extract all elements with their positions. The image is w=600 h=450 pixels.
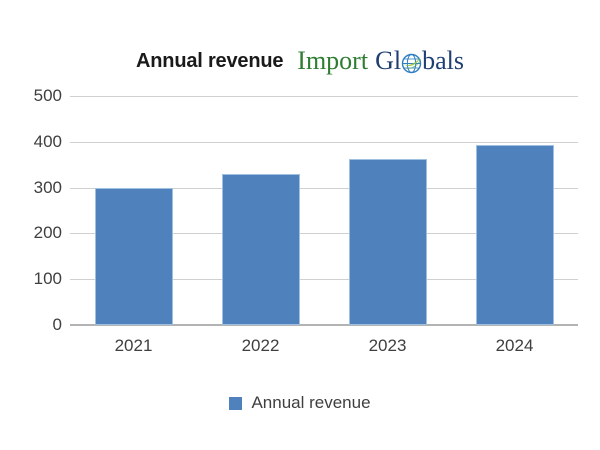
y-tick-400: 400 bbox=[34, 132, 62, 152]
bar-2022[interactable] bbox=[222, 174, 300, 325]
legend-label-annual-revenue: Annual revenue bbox=[251, 393, 370, 413]
x-tick-2024: 2024 bbox=[451, 336, 578, 356]
logo-import-text: Import bbox=[297, 48, 368, 74]
globe-icon bbox=[401, 53, 422, 74]
chart-container: Annual revenue ImportGl bals 500 400 300… bbox=[0, 0, 600, 450]
bar-2024[interactable] bbox=[476, 145, 554, 325]
chart-legend[interactable]: Annual revenue bbox=[0, 393, 600, 413]
logo-globals-prefix: Gl bbox=[375, 48, 401, 74]
y-tick-0: 0 bbox=[53, 315, 62, 335]
y-tick-300: 300 bbox=[34, 178, 62, 198]
y-tick-200: 200 bbox=[34, 223, 62, 243]
bar-slot-2021 bbox=[70, 96, 197, 325]
x-tick-2021: 2021 bbox=[70, 336, 197, 356]
bar-series-annual-revenue bbox=[70, 96, 578, 325]
bar-2021[interactable] bbox=[95, 188, 173, 325]
x-axis-labels: 2021 2022 2023 2024 bbox=[70, 336, 578, 366]
x-tick-2022: 2022 bbox=[197, 336, 324, 356]
legend-swatch-annual-revenue bbox=[229, 397, 242, 410]
y-tick-500: 500 bbox=[34, 86, 62, 106]
x-tick-2023: 2023 bbox=[324, 336, 451, 356]
chart-header: Annual revenue ImportGl bals bbox=[0, 40, 600, 82]
bar-slot-2022 bbox=[197, 96, 324, 325]
chart-title: Annual revenue bbox=[136, 50, 283, 73]
bar-2023[interactable] bbox=[349, 159, 427, 325]
bar-slot-2024 bbox=[451, 96, 578, 325]
logo-globals-suffix: bals bbox=[422, 48, 464, 74]
y-tick-100: 100 bbox=[34, 269, 62, 289]
bar-slot-2023 bbox=[324, 96, 451, 325]
y-axis-labels: 500 400 300 200 100 0 bbox=[0, 96, 62, 325]
brand-logo: ImportGl bals bbox=[297, 48, 464, 74]
